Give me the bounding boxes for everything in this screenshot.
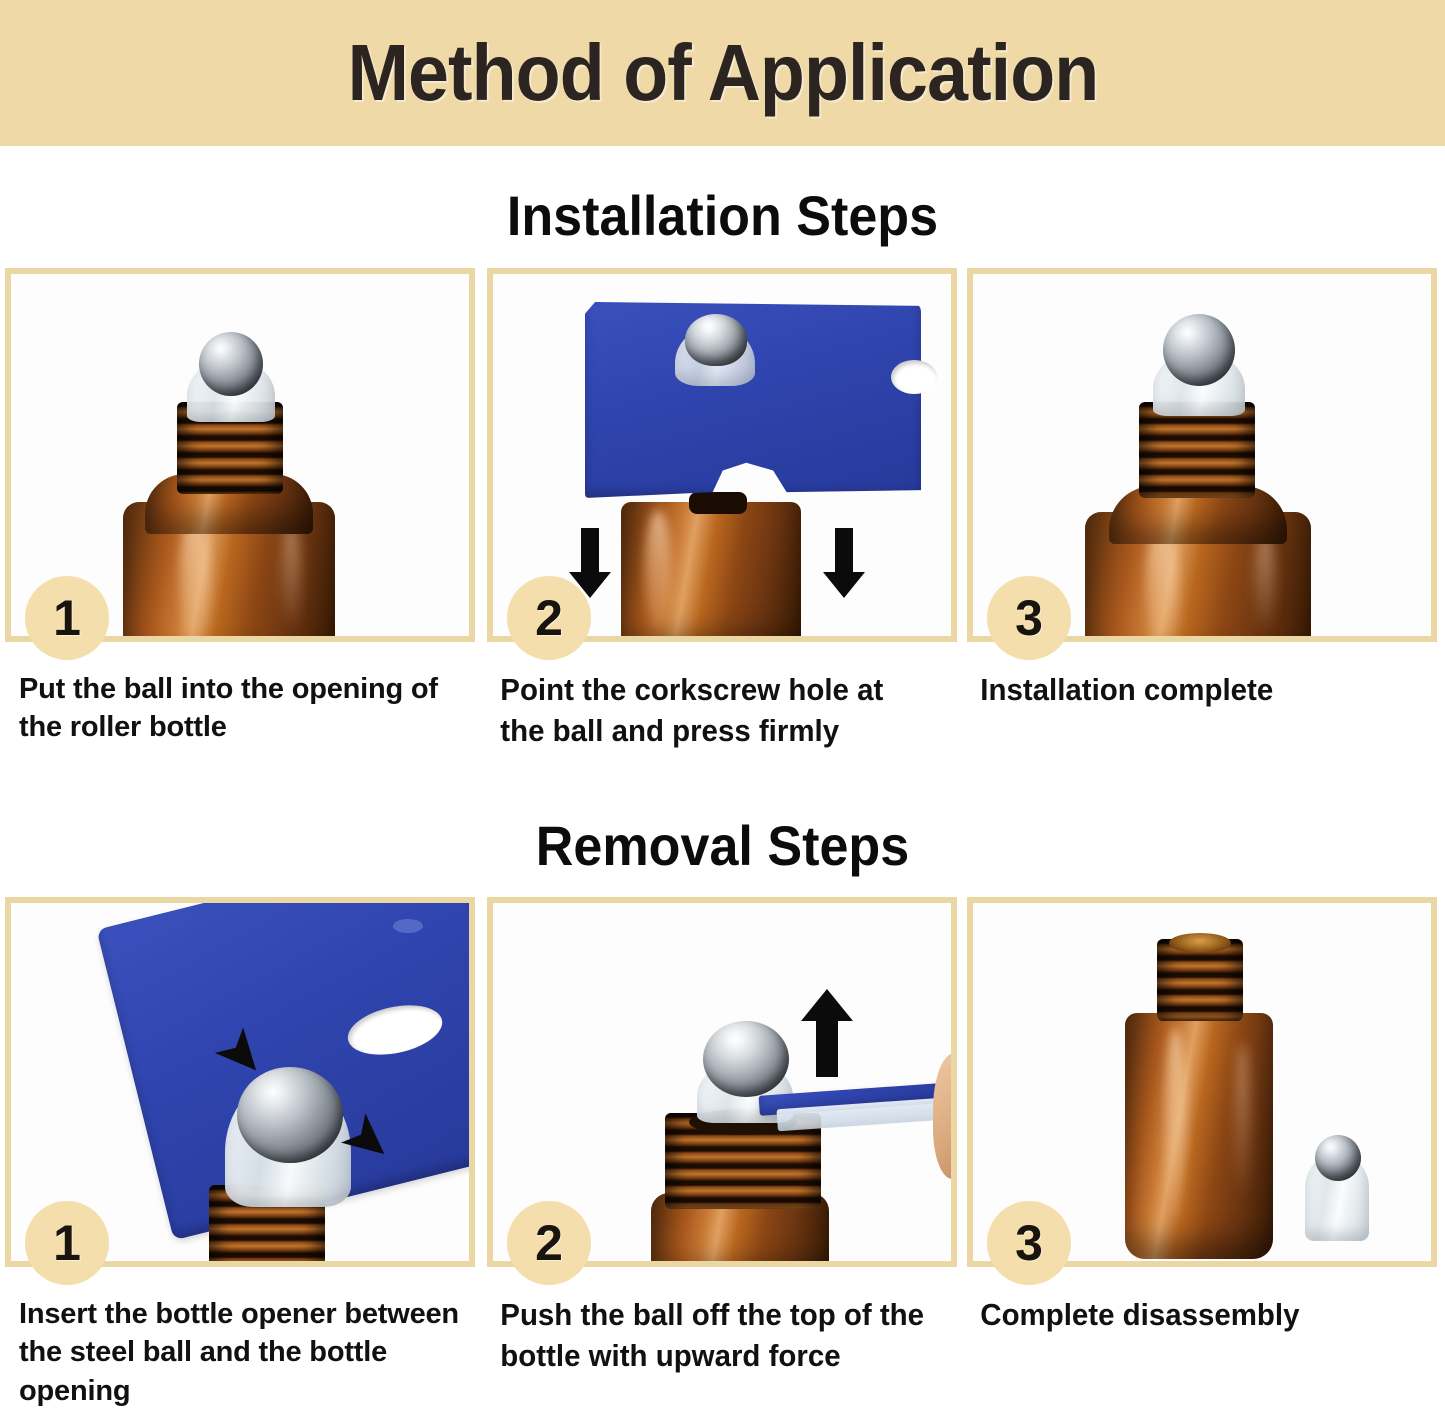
- amber-bottle: [1125, 1013, 1273, 1259]
- photo-frame-removal-1: ➤ ➤ 1: [5, 897, 475, 1267]
- step-number-badge: 2: [507, 1201, 591, 1285]
- step-caption-install-1: Put the ball into the opening of the rol…: [5, 670, 475, 747]
- photo-frame-install-2: 2: [487, 268, 957, 642]
- step-caption-removal-1: Insert the bottle opener between the ste…: [5, 1295, 475, 1410]
- steel-ball: [685, 314, 747, 366]
- steel-ball: [703, 1021, 789, 1097]
- step-number-badge: 2: [507, 576, 591, 660]
- step-card-removal-2: 2 Push the ball off the top of the bottl…: [487, 897, 957, 1377]
- step-caption-install-3: Installation complete: [967, 670, 1414, 711]
- step-card-install-1: 1 Put the ball into the opening of the r…: [5, 268, 475, 747]
- step-number-badge: 1: [25, 1201, 109, 1285]
- header-banner: Method of Application: [0, 0, 1445, 146]
- step-number-badge: 3: [987, 576, 1071, 660]
- step-caption-removal-3: Complete disassembly: [967, 1295, 1414, 1336]
- hand: [933, 1053, 951, 1179]
- section-heading-removal: Removal Steps: [51, 818, 1395, 874]
- bottle-opening: [1169, 933, 1231, 953]
- step-card-removal-1: ➤ ➤ 1 Insert the bottle opener between t…: [5, 897, 475, 1410]
- photo-frame-install-1: 1: [5, 268, 475, 642]
- section-heading-installation: Installation Steps: [51, 188, 1395, 244]
- installation-steps-row: 1 Put the ball into the opening of the r…: [0, 268, 1445, 758]
- photo-frame-removal-2: 2: [487, 897, 957, 1267]
- opener-hole: [891, 360, 937, 394]
- opener-notch: [393, 919, 423, 933]
- photo-frame-removal-3: 3: [967, 897, 1437, 1267]
- removal-steps-row: ➤ ➤ 1 Insert the bottle opener between t…: [0, 897, 1445, 1407]
- step-card-install-3: 3 Installation complete: [967, 268, 1437, 711]
- photo-frame-install-3: 3: [967, 268, 1437, 642]
- steel-ball: [1315, 1135, 1361, 1181]
- step-card-install-2: 2 Point the corkscrew hole at the ball a…: [487, 268, 957, 752]
- step-number-badge: 3: [987, 1201, 1071, 1285]
- page-title: Method of Application: [347, 33, 1098, 113]
- step-caption-install-2: Point the corkscrew hole at the ball and…: [487, 670, 934, 752]
- step-caption-removal-2: Push the ball off the top of the bottle …: [487, 1295, 934, 1377]
- step-number-badge: 1: [25, 576, 109, 660]
- blue-opener-tool: [585, 302, 921, 498]
- step-card-removal-3: 3 Complete disassembly: [967, 897, 1437, 1336]
- infographic-page: Method of Application Installation Steps: [0, 0, 1445, 1416]
- bottle-opening: [689, 492, 747, 514]
